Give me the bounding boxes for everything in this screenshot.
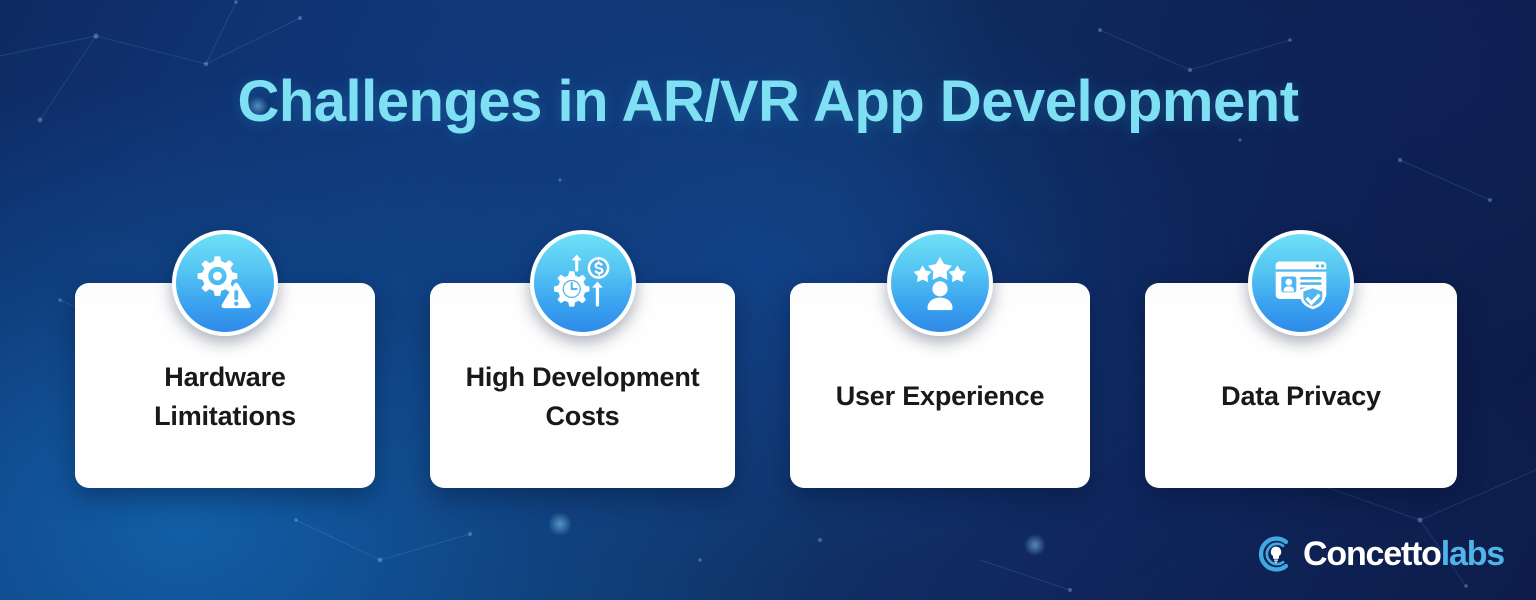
challenge-card-label: Hardware Limitations <box>154 358 296 435</box>
cost-increase-icon <box>530 230 636 336</box>
challenge-card-user-experience[interactable]: User Experience <box>790 283 1090 488</box>
challenge-card-label: High Development Costs <box>466 358 700 435</box>
page-title: Challenges in AR/VR App Development <box>0 68 1536 135</box>
card-label-line-1: Hardware <box>164 362 285 392</box>
challenge-card-label: User Experience <box>836 377 1045 415</box>
logo-text-primary: Concetto <box>1303 535 1441 573</box>
card-label-line-1: Data Privacy <box>1221 381 1381 411</box>
infographic-canvas: Challenges in AR/VR App Development Hard… <box>0 0 1536 600</box>
logo-text-secondary: labs <box>1441 535 1504 573</box>
concetto-bulb-c-icon <box>1256 534 1296 574</box>
card-label-line-2: Costs <box>545 401 619 431</box>
challenge-card-high-development-costs[interactable]: High Development Costs <box>430 283 735 488</box>
challenge-card-data-privacy[interactable]: Data Privacy <box>1145 283 1457 488</box>
challenge-cards-row: Hardware Limitations <box>75 283 1457 488</box>
card-label-line-1: User Experience <box>836 381 1045 411</box>
profile-shield-icon <box>1248 230 1354 336</box>
card-label-line-1: High Development <box>466 362 700 392</box>
challenge-card-hardware-limitations[interactable]: Hardware Limitations <box>75 283 375 488</box>
concettolabs-logo[interactable]: Concettolabs <box>1256 532 1504 576</box>
challenge-card-label: Data Privacy <box>1221 377 1381 415</box>
gear-warning-icon <box>172 230 278 336</box>
logo-wordmark: Concettolabs <box>1303 537 1504 571</box>
card-label-line-2: Limitations <box>154 401 296 431</box>
user-rating-stars-icon <box>887 230 993 336</box>
